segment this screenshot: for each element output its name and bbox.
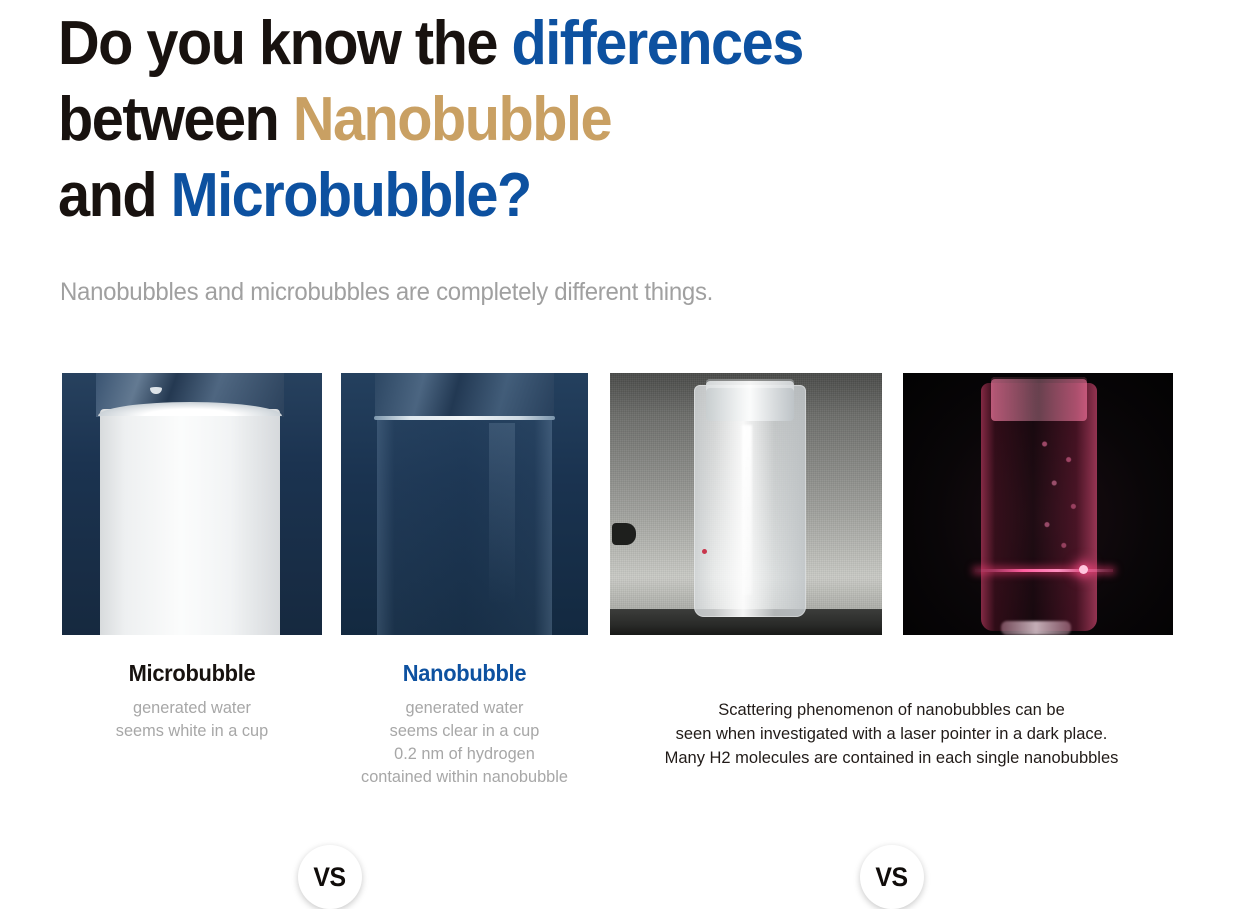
- caption-microbubble-body: generated water seems white in a cup: [67, 696, 317, 742]
- caption-line: contained within nanobubble: [346, 765, 583, 788]
- caption-line: seen when investigated with a laser poin…: [618, 722, 1164, 746]
- caption-nanobubble-title: Nanobubble: [347, 660, 582, 687]
- photo-microbubble-cup: [62, 373, 322, 635]
- page-title: Do you know the differences between Nano…: [58, 6, 1178, 234]
- page-subtitle: Nanobubbles and microbubbles are complet…: [60, 278, 713, 307]
- headline-line-2-plain: between: [58, 85, 293, 154]
- photo-nanobubble-cup: [341, 373, 588, 635]
- vs-badge-left: VS: [298, 845, 362, 909]
- caption-line: generated water: [346, 696, 583, 719]
- clear-water-column: [377, 417, 552, 635]
- caption-nanobubble: Nanobubble generated water seems clear i…: [341, 660, 588, 788]
- caption-nanobubble-body: generated water seems clear in a cup 0.2…: [346, 696, 583, 788]
- scattering-particles: [1035, 431, 1083, 561]
- laser-dot-icon: [702, 549, 707, 554]
- vs-badge-right: VS: [860, 845, 924, 909]
- headline-line-3-plain: and: [58, 161, 171, 230]
- caption-line: generated water: [67, 696, 317, 719]
- caption-line: 0.2 nm of hydrogen: [346, 742, 583, 765]
- headline-line-1-accent: differences: [512, 9, 803, 78]
- caption-microbubble: Microbubble generated water seems white …: [62, 660, 322, 742]
- laser-beam: [975, 569, 1113, 572]
- comparison-photo-row: VS VS: [0, 373, 1233, 635]
- photo-bottle-dark-laser: [903, 373, 1173, 635]
- headline-line-3: and Microbubble?: [58, 158, 1100, 234]
- bottle-base-glow: [1001, 621, 1071, 635]
- caption-line: Many H2 molecules are contained in each …: [618, 746, 1164, 770]
- caption-scattering: Scattering phenomenon of nanobubbles can…: [618, 698, 1164, 770]
- headline-line-1: Do you know the differences: [58, 6, 1100, 82]
- bench-clamp: [612, 523, 636, 545]
- headline-line-3-accent: Microbubble?: [171, 161, 531, 230]
- caption-line: seems clear in a cup: [346, 719, 583, 742]
- caption-line: seems white in a cup: [67, 719, 317, 742]
- caption-line: Scattering phenomenon of nanobubbles can…: [618, 698, 1164, 722]
- headline-line-1-plain: Do you know the: [58, 9, 512, 78]
- vs-badge-left-label: VS: [314, 862, 346, 893]
- bottle-neck: [706, 379, 794, 421]
- glass-sheen: [489, 423, 515, 605]
- vs-badge-right-label: VS: [876, 862, 908, 893]
- caption-microbubble-title: Microbubble: [69, 660, 316, 687]
- glass-rim: [375, 373, 554, 419]
- laser-dot-icon: [1079, 565, 1088, 574]
- headline-line-2: between Nanobubble: [58, 82, 1100, 158]
- specular-highlight: [742, 425, 752, 595]
- bottle-neck: [991, 377, 1087, 421]
- headline-line-2-accent: Nanobubble: [293, 85, 611, 154]
- photo-bottle-lit-room: [610, 373, 882, 635]
- water-surface-line: [374, 416, 555, 420]
- milky-water-column: [100, 409, 280, 635]
